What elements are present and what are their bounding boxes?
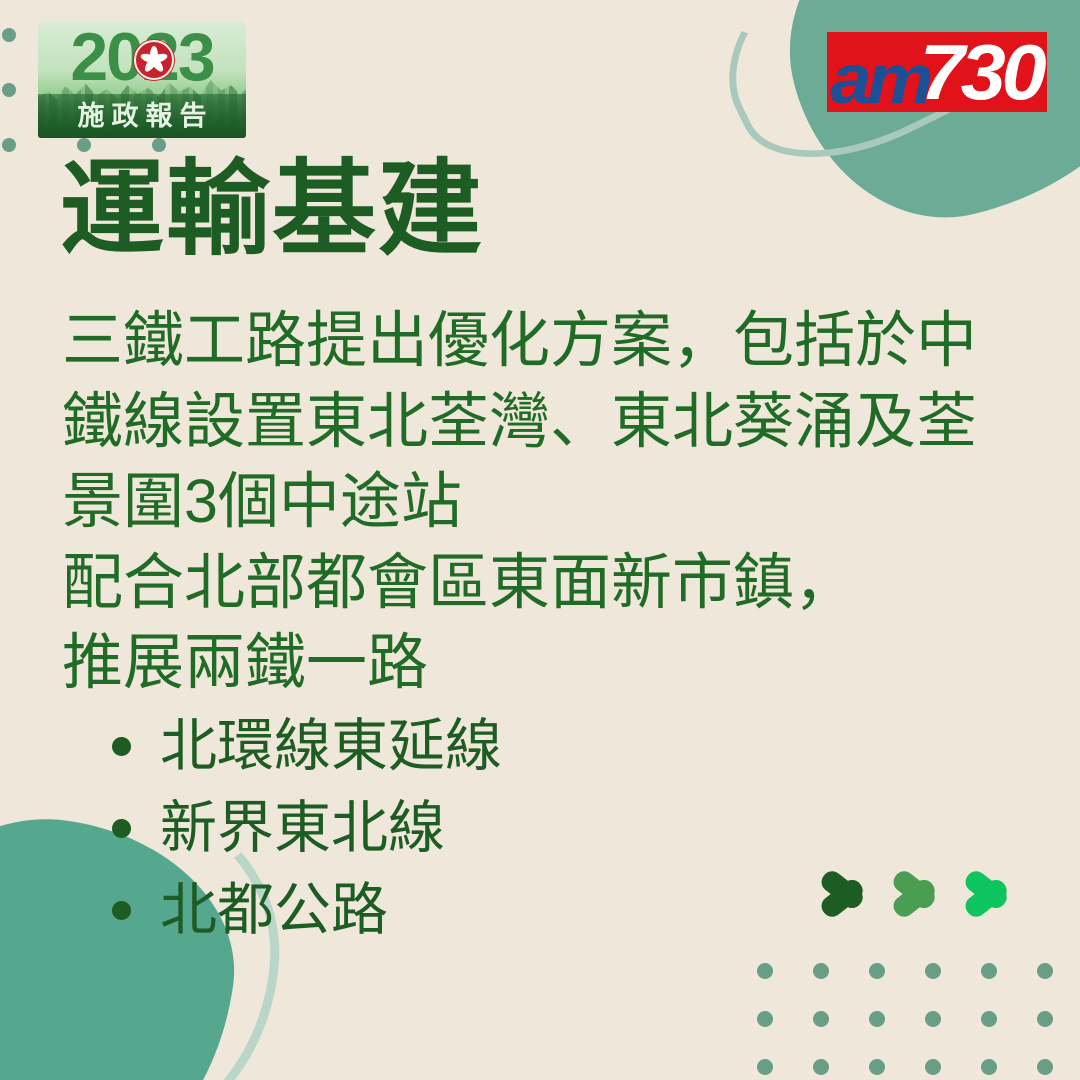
policy-address-subtitle: 施政報告 [38, 100, 246, 134]
poster-canvas: 2023 施政報告 am730 運輸基建 三鐵工路提出優化方案，包括於中鐵線設置… [0, 0, 1080, 1080]
policy-address-logo: 2023 施政報告 [38, 22, 246, 138]
bullet-list: 北環線東延線新界東北線北都公路 [112, 705, 502, 951]
dot-icon [813, 963, 829, 979]
dot-icon [757, 1059, 773, 1075]
body-line: 鐵線設置東北荃灣、東北葵涌及荃 [62, 381, 1022, 462]
dot-icon [925, 1059, 941, 1075]
bullet-dot-icon [112, 901, 131, 920]
dot-grid-decoration-bottom-right [757, 963, 1080, 1080]
dot-icon [152, 138, 166, 152]
am730-logo-number: 730 [920, 41, 1043, 103]
dot-icon [2, 83, 16, 97]
list-item-label: 北環線東延線 [160, 705, 502, 787]
page-title: 運輸基建 [60, 152, 484, 268]
dot-icon [981, 963, 997, 979]
body-line: 景圍3個中途站 [62, 461, 1022, 542]
dot-icon [869, 963, 885, 979]
body-line: 推展兩鐵一路 [62, 622, 1022, 703]
list-item: 北都公路 [112, 869, 502, 951]
body-line: 配合北部都會區東面新市鎮， [62, 542, 1022, 623]
dot-icon [1037, 1011, 1053, 1027]
dot-icon [757, 963, 773, 979]
list-item-label: 新界東北線 [160, 787, 445, 869]
body-copy: 三鐵工路提出優化方案，包括於中鐵線設置東北荃灣、東北葵涌及荃景圍3個中途站配合北… [62, 300, 1022, 703]
dot-icon [981, 1059, 997, 1075]
bauhinia-emblem-icon [134, 40, 174, 80]
dot-icon [981, 1011, 997, 1027]
dot-icon [813, 1011, 829, 1027]
bullet-dot-icon [112, 737, 131, 756]
chevron-right-icon [968, 855, 1008, 933]
body-line: 三鐵工路提出優化方案，包括於中 [62, 300, 1022, 381]
bullet-dot-icon [112, 819, 131, 838]
chevron-arrows-decoration [824, 855, 1039, 935]
dot-icon [757, 1011, 773, 1027]
am730-logo: am730 [827, 32, 1047, 112]
dot-icon [2, 138, 16, 152]
dot-icon [869, 1059, 885, 1075]
dot-icon [2, 28, 16, 42]
am730-logo-prefix: am [830, 38, 929, 107]
dot-icon [925, 963, 941, 979]
list-item: 新界東北線 [112, 787, 502, 869]
chevron-right-icon [896, 855, 936, 933]
dot-icon [925, 1011, 941, 1027]
dot-icon [869, 1011, 885, 1027]
chevron-right-icon [824, 855, 864, 933]
list-item-label: 北都公路 [160, 869, 388, 951]
dot-icon [813, 1059, 829, 1075]
dot-icon [1037, 1059, 1053, 1075]
dot-icon [1037, 963, 1053, 979]
list-item: 北環線東延線 [112, 705, 502, 787]
dot-icon [77, 138, 91, 152]
